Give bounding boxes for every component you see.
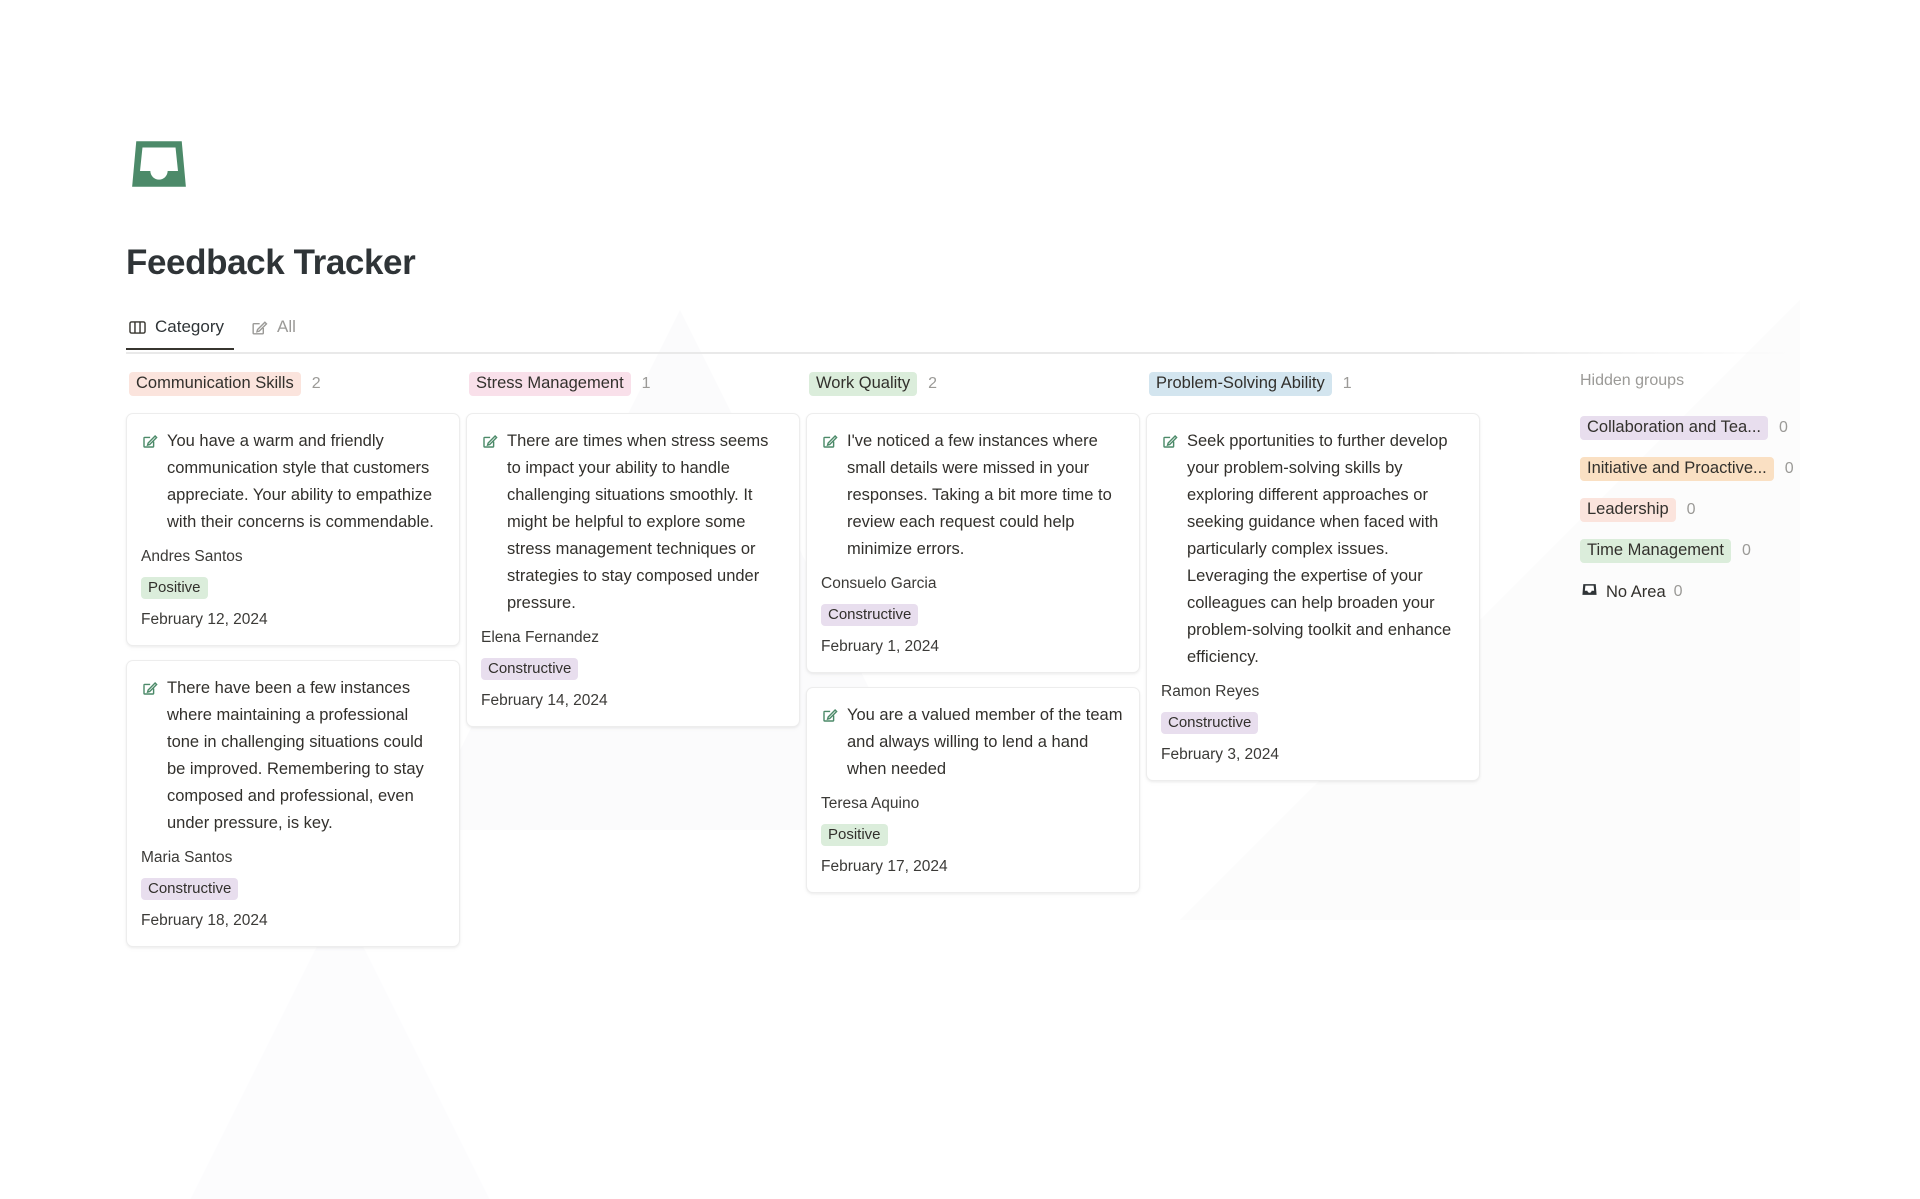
column-cards: I've noticed a few instances where small… — [806, 413, 1146, 893]
card-date: February 3, 2024 — [1161, 746, 1463, 764]
hidden-group-count: 0 — [1742, 542, 1751, 560]
column-title-chip: Work Quality — [809, 372, 917, 396]
card-title: I've noticed a few instances where small… — [847, 428, 1123, 563]
edit-square-icon — [250, 318, 269, 337]
column-title-chip: Communication Skills — [129, 372, 301, 396]
columns-icon — [128, 318, 147, 337]
card-badge-row: Positive — [821, 824, 1123, 846]
hidden-groups-title: Hidden groups — [1578, 372, 1878, 396]
card-badge-row: Constructive — [141, 878, 443, 900]
kanban-board: Communication Skills 2 — [126, 372, 1486, 947]
edit-square-icon — [481, 432, 499, 455]
card-date: February 17, 2024 — [821, 858, 1123, 876]
column-header[interactable]: Work Quality 2 — [806, 372, 1146, 396]
feedback-card[interactable]: Seek pportunities to further develop you… — [1146, 413, 1480, 781]
card-title: You have a warm and friendly communicati… — [167, 428, 443, 536]
edit-square-icon — [141, 432, 159, 455]
card-title: There are times when stress seems to imp… — [507, 428, 783, 617]
board-column-communication-skills: Communication Skills 2 — [126, 372, 466, 947]
hidden-group-chip: Initiative and Proactive... — [1580, 457, 1774, 481]
inbox-tray-icon — [1581, 581, 1598, 603]
status-badge: Positive — [821, 824, 888, 846]
feedback-card[interactable]: You are a valued member of the team and … — [806, 687, 1140, 893]
column-title-chip: Problem-Solving Ability — [1149, 372, 1332, 396]
edit-square-icon — [141, 679, 159, 702]
column-count: 1 — [642, 375, 651, 393]
card-badge-row: Constructive — [1161, 712, 1463, 734]
board-column-problem-solving-ability: Problem-Solving Ability 1 — [1146, 372, 1486, 781]
hidden-groups-panel: Hidden groups Collaboration and Tea... 0… — [1578, 372, 1878, 607]
column-header[interactable]: Stress Management 1 — [466, 372, 806, 396]
column-cards: You have a warm and friendly communicati… — [126, 413, 466, 947]
feedback-card[interactable]: There are times when stress seems to imp… — [466, 413, 800, 727]
card-title: Seek pportunities to further develop you… — [1187, 428, 1463, 671]
column-cards: Seek pportunities to further develop you… — [1146, 413, 1486, 781]
status-badge: Constructive — [481, 658, 578, 680]
page-root: Feedback Tracker Category — [0, 0, 1920, 1199]
hidden-group-chip: Time Management — [1580, 539, 1731, 563]
page-title: Feedback Tracker — [126, 243, 415, 283]
card-author: Ramon Reyes — [1161, 683, 1463, 701]
tab-label: All — [277, 317, 296, 337]
hidden-group-item-no-area[interactable]: No Area 0 — [1578, 577, 1878, 607]
inbox-tray-icon[interactable] — [128, 133, 190, 195]
column-header[interactable]: Communication Skills 2 — [126, 372, 466, 396]
hidden-group-label: No Area — [1606, 583, 1666, 602]
column-count: 1 — [1343, 375, 1352, 393]
status-badge: Constructive — [821, 604, 918, 626]
hidden-group-item[interactable]: Collaboration and Tea... 0 — [1578, 413, 1878, 443]
tab-all[interactable]: All — [248, 313, 306, 350]
column-header[interactable]: Problem-Solving Ability 1 — [1146, 372, 1486, 396]
card-author: Andres Santos — [141, 548, 443, 566]
card-author: Elena Fernandez — [481, 629, 783, 647]
status-badge: Constructive — [1161, 712, 1258, 734]
hidden-group-item[interactable]: Initiative and Proactive... 0 — [1578, 454, 1878, 484]
feedback-card[interactable]: You have a warm and friendly communicati… — [126, 413, 460, 646]
hidden-group-count: 0 — [1687, 501, 1696, 519]
card-date: February 18, 2024 — [141, 912, 443, 930]
tab-category[interactable]: Category — [126, 313, 234, 350]
column-count: 2 — [928, 375, 937, 393]
hidden-group-count: 0 — [1785, 460, 1794, 478]
card-author: Consuelo Garcia — [821, 575, 1123, 593]
hidden-group-item[interactable]: Leadership 0 — [1578, 495, 1878, 525]
card-date: February 14, 2024 — [481, 692, 783, 710]
card-author: Maria Santos — [141, 849, 443, 867]
edit-square-icon — [821, 432, 839, 455]
hidden-group-chip: Leadership — [1580, 498, 1676, 522]
column-title-chip: Stress Management — [469, 372, 631, 396]
edit-square-icon — [1161, 432, 1179, 455]
card-title: You are a valued member of the team and … — [847, 702, 1123, 783]
feedback-card[interactable]: There have been a few instances where ma… — [126, 660, 460, 947]
card-title: There have been a few instances where ma… — [167, 675, 443, 837]
status-badge: Positive — [141, 577, 208, 599]
board-column-work-quality: Work Quality 2 — [806, 372, 1146, 893]
card-author: Teresa Aquino — [821, 795, 1123, 813]
board-column-stress-management: Stress Management 1 — [466, 372, 806, 727]
card-badge-row: Constructive — [821, 604, 1123, 626]
hidden-group-item[interactable]: Time Management 0 — [1578, 536, 1878, 566]
hidden-group-chip: Collaboration and Tea... — [1580, 416, 1768, 440]
column-cards: There are times when stress seems to imp… — [466, 413, 806, 727]
status-badge: Constructive — [141, 878, 238, 900]
card-date: February 12, 2024 — [141, 611, 443, 629]
hidden-group-count: 0 — [1779, 419, 1788, 437]
view-tabs: Category All — [126, 313, 320, 350]
feedback-card[interactable]: I've noticed a few instances where small… — [806, 413, 1140, 673]
tabs-divider — [126, 352, 1796, 354]
column-count: 2 — [312, 375, 321, 393]
hidden-group-count: 0 — [1674, 583, 1683, 601]
edit-square-icon — [821, 706, 839, 729]
card-badge-row: Constructive — [481, 658, 783, 680]
card-badge-row: Positive — [141, 577, 443, 599]
tab-label: Category — [155, 317, 224, 337]
card-date: February 1, 2024 — [821, 638, 1123, 656]
